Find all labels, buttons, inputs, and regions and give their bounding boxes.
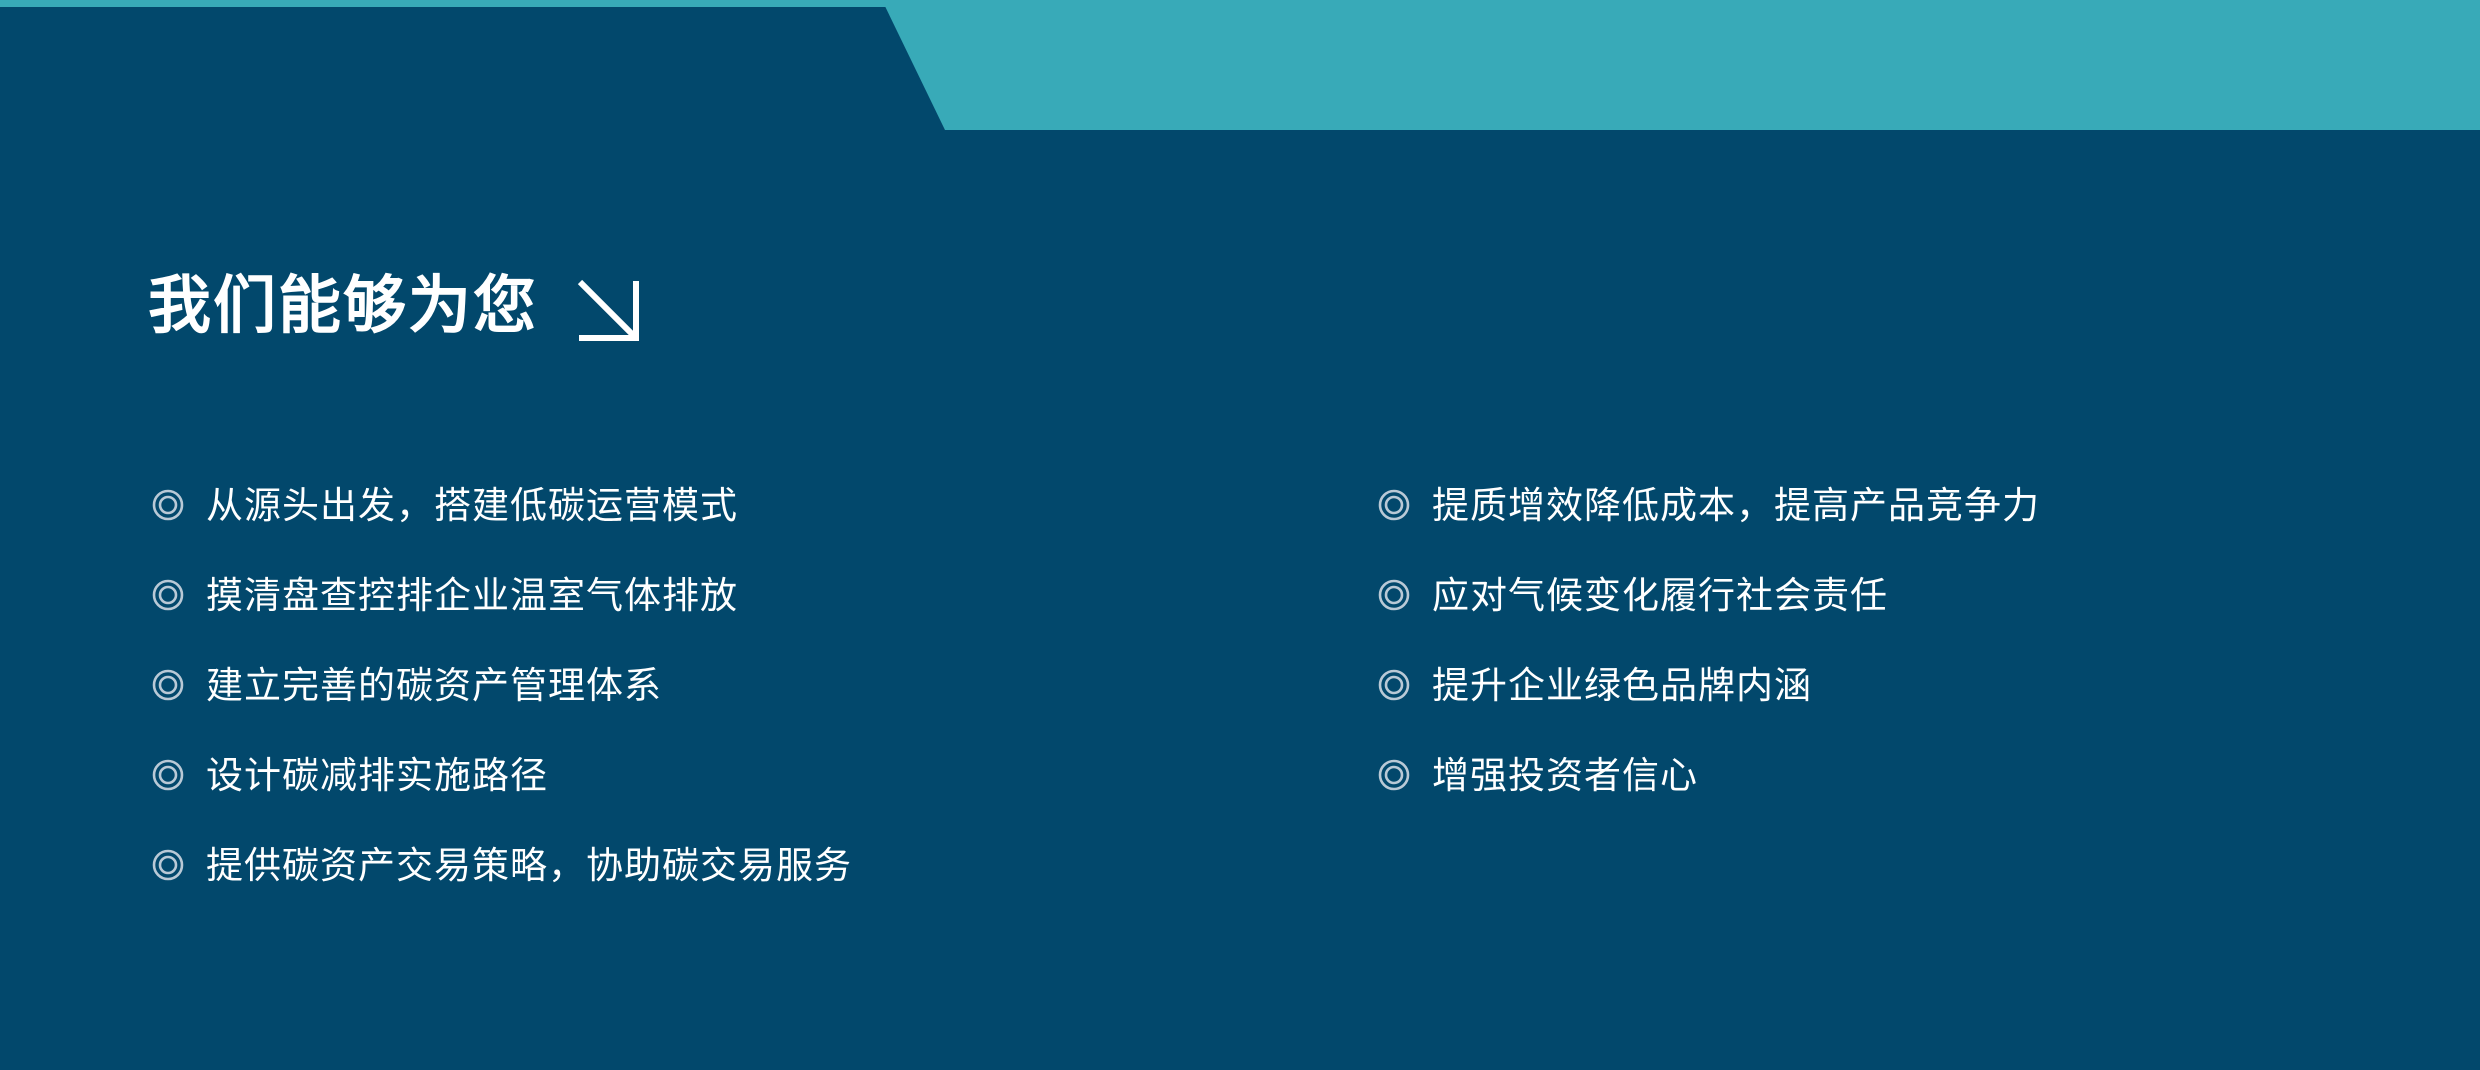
arrow-diagonal-down-right-icon [576,278,642,344]
list-item-label: 摸清盘查控排企业温室气体排放 [206,577,738,614]
double-circle-icon [152,849,184,881]
list-item: 摸清盘查控排企业温室气体排放 [152,550,852,640]
list-item: 应对气候变化履行社会责任 [1378,550,2040,640]
list-item-label: 应对气候变化履行社会责任 [1432,577,1888,614]
double-circle-icon [1378,579,1410,611]
double-circle-icon [152,579,184,611]
benefits-column-left: 从源头出发，搭建低碳运营模式 摸清盘查控排企业温室气体排放 建立完善的碳资产管理… [152,460,852,910]
list-item-label: 提供碳资产交易策略，协助碳交易服务 [206,847,852,884]
slide-root: 我们能够为您 从源头出发，搭建低碳运营模式 摸清盘查控排企业温室气体排放 [0,0,2480,1070]
list-item: 设计碳减排实施路径 [152,730,852,820]
list-item-label: 从源头出发，搭建低碳运营模式 [206,487,738,524]
list-item-label: 提质增效降低成本，提高产品竞争力 [1432,487,2040,524]
page-title: 我们能够为您 [148,275,538,338]
double-circle-icon [152,669,184,701]
benefits-column-right: 提质增效降低成本，提高产品竞争力 应对气候变化履行社会责任 提升企业绿色品牌内涵 [1378,460,2040,820]
double-circle-icon [152,759,184,791]
list-item-label: 提升企业绿色品牌内涵 [1432,667,1812,704]
teal-banner-wedge [0,0,2480,130]
list-item: 提升企业绿色品牌内涵 [1378,640,2040,730]
list-item-label: 增强投资者信心 [1432,757,1698,794]
list-item: 增强投资者信心 [1378,730,2040,820]
list-item: 提供碳资产交易策略，协助碳交易服务 [152,820,852,910]
list-item: 从源头出发，搭建低碳运营模式 [152,460,852,550]
list-item-label: 建立完善的碳资产管理体系 [206,667,662,704]
double-circle-icon [1378,759,1410,791]
double-circle-icon [152,489,184,521]
page-title-row: 我们能够为您 [148,268,642,344]
list-item: 提质增效降低成本，提高产品竞争力 [1378,460,2040,550]
double-circle-icon [1378,489,1410,521]
double-circle-icon [1378,669,1410,701]
list-item-label: 设计碳减排实施路径 [206,757,548,794]
list-item: 建立完善的碳资产管理体系 [152,640,852,730]
